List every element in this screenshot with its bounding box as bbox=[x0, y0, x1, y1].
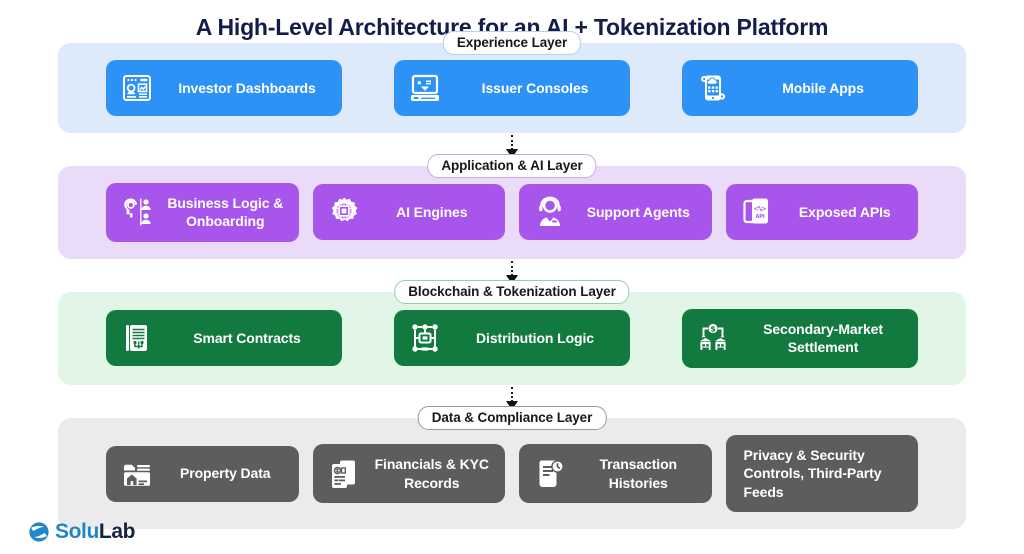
headset-agent-icon bbox=[533, 195, 567, 229]
card-label: Financials & KYC Records bbox=[373, 455, 492, 492]
contract-scroll-icon bbox=[120, 321, 154, 355]
card-mobile-apps[interactable]: Mobile Apps bbox=[682, 60, 918, 116]
solulab-logo-mark bbox=[28, 521, 50, 543]
card-label: Issuer Consoles bbox=[454, 79, 616, 97]
card-label: Investor Dashboards bbox=[166, 79, 328, 97]
dotted-line bbox=[511, 135, 513, 150]
dotted-line bbox=[511, 261, 513, 276]
card-label: AI Engines bbox=[373, 203, 492, 221]
bank-exchange-icon: $ bbox=[696, 321, 730, 355]
receipt-clock-icon bbox=[533, 457, 567, 491]
card-property-data[interactable]: Property Data bbox=[106, 446, 299, 502]
head-gear-users-icon bbox=[120, 195, 154, 229]
card-label: Transaction Histories bbox=[579, 455, 698, 492]
dotted-line bbox=[511, 387, 513, 402]
card-label: Smart Contracts bbox=[166, 329, 328, 347]
folder-house-icon bbox=[120, 457, 154, 491]
layer-label-data-compliance: Data & Compliance Layer bbox=[418, 406, 607, 430]
layer-label-application-ai: Application & AI Layer bbox=[427, 154, 596, 178]
layer-experience: Experience Layer bbox=[58, 43, 966, 133]
card-label: Exposed APIs bbox=[786, 203, 905, 221]
gear-chip-icon bbox=[327, 195, 361, 229]
layer-band-data-compliance: Property Data bbox=[58, 418, 966, 529]
card-label: Distribution Logic bbox=[454, 329, 616, 347]
api-code-document-icon: <%> API bbox=[740, 195, 774, 229]
layer-application-ai: Application & AI Layer Business Log bbox=[58, 166, 966, 259]
layer-data-compliance: Data & Compliance Layer bbox=[58, 418, 966, 529]
card-secondary-market-settlement[interactable]: $ Secondary-Mark bbox=[682, 309, 918, 368]
card-ai-engines[interactable]: AI Engines bbox=[313, 184, 506, 240]
card-label: Business Logic & Onboarding bbox=[166, 194, 285, 231]
layer-blockchain-tokenization: Blockchain & Tokenization Layer bbox=[58, 292, 966, 385]
logo-text-solu: Solu bbox=[55, 520, 99, 543]
card-label: Privacy & Security Controls, Third-Party… bbox=[740, 446, 905, 501]
id-document-icon bbox=[327, 457, 361, 491]
card-smart-contracts[interactable]: Smart Contracts bbox=[106, 310, 342, 366]
layer-label-experience: Experience Layer bbox=[443, 31, 581, 55]
solulab-wordmark: SoluLab bbox=[55, 520, 135, 544]
card-label: Support Agents bbox=[579, 203, 698, 221]
card-investor-dashboards[interactable]: Investor Dashboards bbox=[106, 60, 342, 116]
dashboard-window-icon bbox=[120, 71, 154, 105]
card-label: Secondary-Market Settlement bbox=[742, 320, 904, 357]
card-issuer-consoles[interactable]: Issuer Consoles bbox=[394, 60, 630, 116]
card-label: Mobile Apps bbox=[742, 79, 904, 97]
card-transaction-histories[interactable]: Transaction Histories bbox=[519, 444, 712, 503]
layer-band-experience: Investor Dashboards Issuer Consoles bbox=[58, 43, 966, 133]
smartphone-cloud-icon bbox=[696, 71, 730, 105]
solulab-logo: SoluLab bbox=[28, 520, 135, 544]
layer-label-blockchain-tokenization: Blockchain & Tokenization Layer bbox=[394, 280, 629, 304]
layer-band-blockchain-tokenization: Smart Contracts Distribution Logic bbox=[58, 292, 966, 385]
network-nodes-icon bbox=[408, 321, 442, 355]
svg-text:API: API bbox=[755, 214, 764, 220]
card-financials-kyc-records[interactable]: Financials & KYC Records bbox=[313, 444, 506, 503]
svg-text:<%>: <%> bbox=[753, 205, 765, 213]
card-label: Property Data bbox=[166, 464, 285, 482]
card-distribution-logic[interactable]: Distribution Logic bbox=[394, 310, 630, 366]
logo-text-lab: Lab bbox=[99, 520, 135, 543]
card-exposed-apis[interactable]: <%> API Exposed APIs bbox=[726, 184, 919, 240]
card-business-logic-onboarding[interactable]: Business Logic & Onboarding bbox=[106, 183, 299, 242]
architecture-diagram: Experience Layer bbox=[0, 43, 1024, 529]
card-privacy-security-controls[interactable]: Privacy & Security Controls, Third-Party… bbox=[726, 435, 919, 512]
svg-text:$: $ bbox=[710, 325, 715, 334]
card-support-agents[interactable]: Support Agents bbox=[519, 184, 712, 240]
desktop-monitor-icon bbox=[408, 71, 442, 105]
layer-band-application-ai: Business Logic & Onboarding AI Engines bbox=[58, 166, 966, 259]
